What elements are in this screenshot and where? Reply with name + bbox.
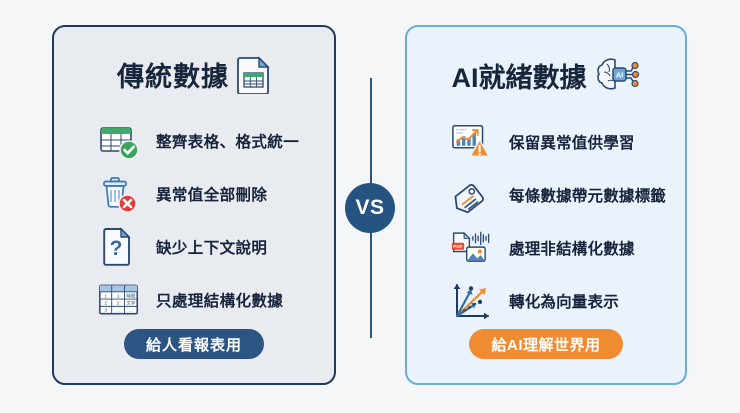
list-item-label: 每條數據帶元數據標籤 (509, 184, 666, 206)
list-item: PDF (407, 221, 685, 274)
left-panel-heading: 傳統數據 (54, 55, 334, 94)
left-panel-title: 傳統數據 (117, 55, 229, 94)
ai-brain-chip-icon: AI (595, 55, 641, 95)
right-panel-item-list: 保留異常值供學習 每條數據帶元數據標籤 (407, 115, 685, 327)
list-item-label: 整齊表格、格式統一 (156, 130, 299, 152)
traditional-data-panel: 傳統數據 (52, 25, 336, 385)
right-panel-footer: 給AI理解世界用 (407, 329, 685, 359)
chart-warning-icon (451, 121, 493, 163)
versus-badge: VS (345, 183, 395, 233)
svg-text:3: 3 (104, 307, 107, 313)
list-item: 整齊表格、格式統一 (54, 114, 334, 167)
list-item-label: 缺少上下文說明 (156, 236, 267, 258)
list-item: 每條數據帶元數據標籤 (407, 168, 685, 221)
svg-text:1: 1 (104, 293, 107, 299)
left-panel-footer-pill[interactable]: 給人看報表用 (124, 329, 264, 359)
table-check-icon (98, 120, 140, 162)
svg-text:PDF: PDF (453, 244, 463, 250)
svg-text:2: 2 (104, 300, 107, 306)
list-item: 1 1 時間 2 2 文字 3 ... ... 只處理結構化數據 (54, 273, 334, 326)
list-item: 轉化為向量表示 (407, 274, 685, 327)
svg-text:...: ... (116, 308, 120, 313)
svg-text:AI: AI (615, 71, 623, 80)
list-item-label: 處理非結構化數據 (509, 237, 635, 259)
structured-table-icon: 1 1 時間 2 2 文字 3 ... ... (98, 279, 140, 321)
ai-ready-data-panel: AI就緒數據 AI (405, 25, 687, 385)
list-item-label: 轉化為向量表示 (509, 290, 619, 312)
right-panel-title: AI就緒數據 (452, 56, 587, 95)
svg-text:2: 2 (117, 300, 120, 306)
list-item: 異常值全部刪除 (54, 167, 334, 220)
svg-text:?: ? (110, 237, 123, 260)
list-item-label: 只處理結構化數據 (156, 289, 283, 311)
left-panel-item-list: 整齊表格、格式統一 異常值全部刪除 (54, 114, 334, 326)
svg-text:1: 1 (117, 293, 120, 299)
unstructured-pdf-audio-image-icon: PDF (451, 227, 493, 269)
comparison-diagram: 傳統數據 (0, 0, 740, 413)
list-item-label: 保留異常值供學習 (509, 131, 635, 153)
right-panel-footer-pill[interactable]: 給AI理解世界用 (469, 329, 622, 359)
list-item-label: 異常值全部刪除 (156, 183, 267, 205)
svg-text:文字: 文字 (126, 299, 136, 306)
list-item: 保留異常值供學習 (407, 115, 685, 168)
left-panel-footer: 給人看報表用 (54, 329, 334, 359)
metadata-tag-icon (451, 174, 493, 216)
vector-arrows-icon (451, 280, 493, 322)
document-question-icon: ? (98, 226, 140, 268)
trash-delete-icon (98, 173, 140, 215)
right-panel-heading: AI就緒數據 AI (407, 55, 685, 95)
spreadsheet-document-icon (237, 56, 271, 94)
svg-text:...: ... (129, 308, 133, 313)
list-item: ? 缺少上下文說明 (54, 220, 334, 273)
